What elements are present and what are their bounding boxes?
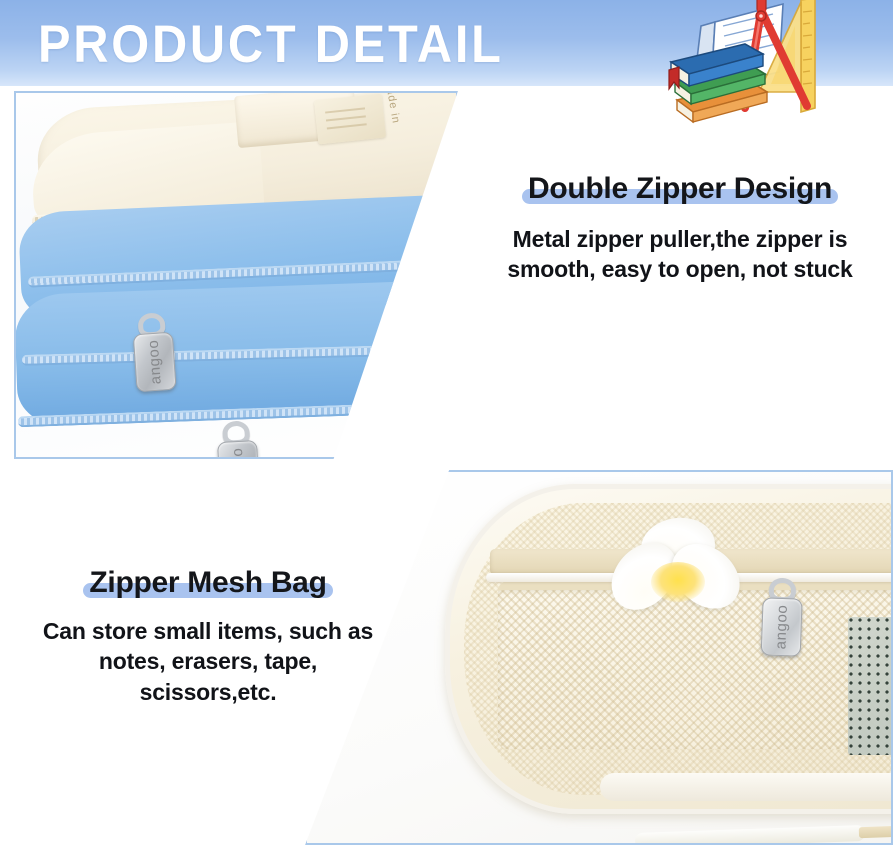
open-notebook-icon [693,4,783,92]
school-supplies-illustration [655,0,893,156]
feature-heading: Double Zipper Design [528,172,832,205]
dark-mesh-pocket [848,617,893,755]
red-compass-icon [745,0,807,108]
feature-heading-wrap: Double Zipper Design [528,172,832,206]
plumeria-flower [605,518,755,628]
zipper-puller-upper: angoo [129,312,178,393]
page-title: PRODUCT DETAIL [38,14,504,75]
feature-block-mesh-bag: Zipper Mesh Bag Can store small items, s… [28,566,388,707]
yellow-triangle-icon [759,2,801,92]
feature-description: Can store small items, such as notes, er… [28,616,388,707]
zipper-brand-label: angoo [145,339,165,385]
product-detail-page: PRODUCT DETAIL [0,0,893,845]
feature-block-double-zipper: Double Zipper Design Metal zipper puller… [480,172,880,285]
zipper-puller-lower: angoo [214,420,262,459]
feature-heading: Zipper Mesh Bag [89,566,326,599]
feature-heading-wrap: Zipper Mesh Bag [89,566,326,600]
zipper-brand-label: angoo [229,447,248,459]
zipper-puller-mesh: angoo [759,577,806,656]
pen-prop [635,825,865,845]
blue-pencil-case-zippers-photo: Made in angoo angoo [14,91,458,459]
feature-description: Metal zipper puller,the zipper is smooth… [480,224,880,285]
header-banner: PRODUCT DETAIL [0,0,893,86]
stacked-books-icon [669,44,767,122]
zipper-brand-label: angoo [772,604,791,649]
yellow-ruler-icon [801,0,815,112]
cream-interior-mesh-pocket-photo: angoo [305,470,893,845]
